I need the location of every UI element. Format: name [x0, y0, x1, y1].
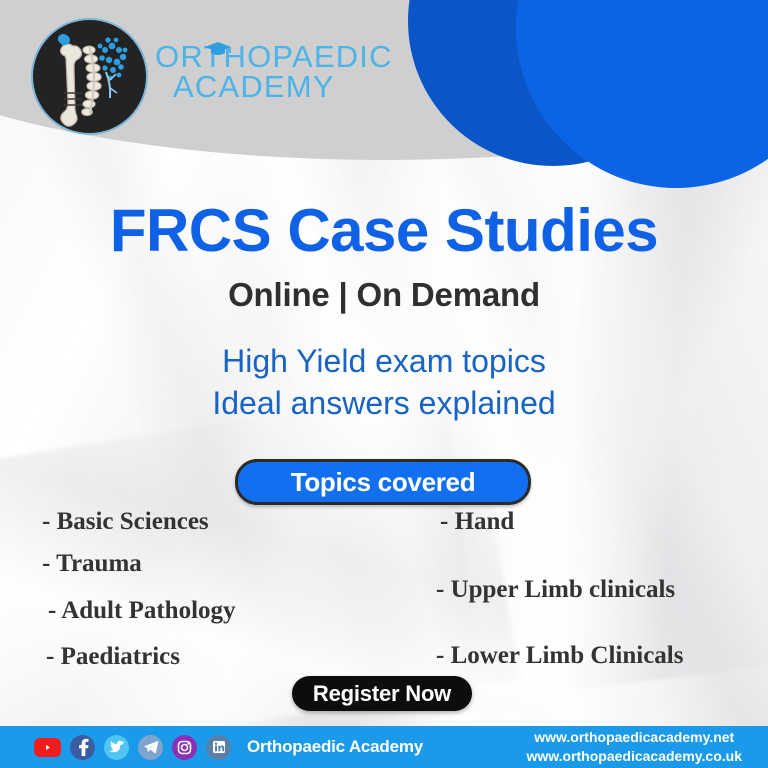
- brand-logo-line1: ORTHOPAEDIC: [155, 42, 393, 72]
- footer-urls: www.orthopaedicacademy.net www.orthopaed…: [526, 728, 742, 766]
- topics-covered-badge: Topics covered: [235, 459, 531, 505]
- register-now-button[interactable]: Register Now: [292, 676, 472, 711]
- twitter-icon[interactable]: [104, 735, 129, 760]
- register-now-label: Register Now: [313, 681, 451, 707]
- linkedin-icon[interactable]: [206, 735, 231, 760]
- website-url-primary[interactable]: www.orthopaedicacademy.net: [526, 728, 742, 747]
- tagline-block: High Yield exam topics Ideal answers exp…: [0, 340, 768, 424]
- list-item: - Lower Limb Clinicals: [436, 642, 766, 670]
- graduation-cap-icon: [204, 41, 232, 57]
- page-subtitle: Online | On Demand: [0, 276, 768, 314]
- tagline-line-2: Ideal answers explained: [0, 382, 768, 424]
- list-item: - Basic Sciences: [40, 508, 400, 536]
- facebook-icon[interactable]: [70, 735, 95, 760]
- youtube-icon[interactable]: [34, 738, 61, 757]
- page-title: FRCS Case Studies: [0, 196, 768, 265]
- topics-list-right: - Hand - Upper Limb clinicals - Lower Li…: [436, 508, 766, 670]
- brand-logo-line2: ACADEMY: [155, 72, 393, 102]
- list-item: - Adult Pathology: [40, 597, 400, 625]
- list-item: - Hand: [436, 508, 766, 536]
- list-item: - Upper Limb clinicals: [436, 576, 766, 604]
- brand-logo-text: ORTHOPAEDIC ACADEMY: [155, 42, 393, 102]
- list-item: - Trauma: [40, 550, 400, 578]
- social-links: [34, 735, 231, 760]
- topics-covered-label: Topics covered: [291, 467, 476, 498]
- topics-list-left: - Basic Sciences - Trauma - Adult Pathol…: [40, 508, 400, 671]
- telegram-icon[interactable]: [138, 735, 163, 760]
- promo-poster: ORTHOPAEDIC ACADEMY FRCS Case Studies On…: [0, 0, 768, 768]
- footer-brand-name: Orthopaedic Academy: [247, 737, 423, 757]
- femur-spine-tree-icon: [33, 20, 146, 133]
- instagram-icon[interactable]: [172, 735, 197, 760]
- tagline-line-1: High Yield exam topics: [0, 340, 768, 382]
- footer-bar: Orthopaedic Academy www.orthopaedicacade…: [0, 726, 768, 768]
- website-url-secondary[interactable]: www.orthopaedicacademy.co.uk: [526, 747, 742, 766]
- brand-logo: ORTHOPAEDIC ACADEMY: [33, 20, 333, 135]
- list-item: - Paediatrics: [40, 643, 400, 671]
